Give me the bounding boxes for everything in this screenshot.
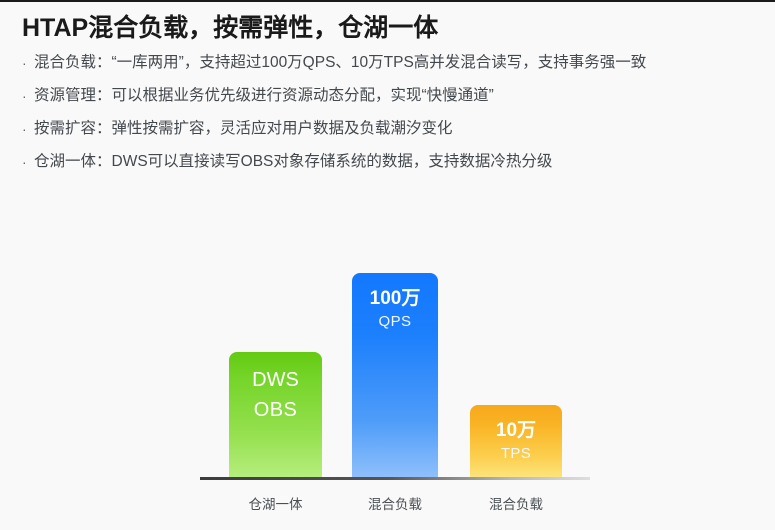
bar-value-label: 10万 [470, 419, 562, 443]
bar-cang-hu-yi-ti[interactable]: DWS OBS [229, 352, 322, 478]
bar-label-group: DWS OBS [229, 368, 322, 421]
list-item: · 资源管理：可以根据业务优先级进行资源动态分配，实现“快慢通道” [20, 85, 765, 118]
list-item: · 混合负载：“一库两用”，支持超过100万QPS、10万TPS高并发混合读写，… [20, 52, 765, 85]
bar-label-group: 10万 TPS [470, 419, 562, 465]
top-edge-rule [0, 0, 775, 2]
bullet-text: 按需扩容：弹性按需扩容，灵活应对用户数据及负载潮汐变化 [34, 118, 453, 140]
list-item: · 仓湖一体：DWS可以直接读写OBS对象存储系统的数据，支持数据冷热分级 [20, 151, 765, 184]
bullet-dot-icon: · [20, 85, 34, 107]
bar-sub-label: OBS [229, 399, 322, 421]
bullet-text: 混合负载：“一库两用”，支持超过100万QPS、10万TPS高并发混合读写，支持… [34, 52, 646, 74]
bar-qps[interactable]: 100万 QPS [352, 273, 438, 478]
category-label-1: 混合负载 [347, 493, 443, 513]
bar-value-label: 100万 [352, 287, 438, 311]
bullet-dot-icon: · [20, 151, 34, 173]
category-label-0: 仓湖一体 [229, 493, 322, 513]
category-label-2: 混合负载 [468, 493, 564, 513]
bullet-dot-icon: · [20, 52, 34, 74]
bar-label-group: 100万 QPS [352, 287, 438, 333]
bullet-dot-icon: · [20, 118, 34, 140]
page-title: HTAP混合负载，按需弹性，仓湖一体 [22, 8, 438, 44]
bar-tps[interactable]: 10万 TPS [470, 405, 562, 478]
bullet-text: 资源管理：可以根据业务优先级进行资源动态分配，实现“快慢通道” [34, 85, 494, 107]
bar-sub-label: QPS [352, 311, 438, 333]
list-item: · 按需扩容：弹性按需扩容，灵活应对用户数据及负载潮汐变化 [20, 118, 765, 151]
bullet-list: · 混合负载：“一库两用”，支持超过100万QPS、10万TPS高并发混合读写，… [20, 52, 765, 184]
bullet-text: 仓湖一体：DWS可以直接读写OBS对象存储系统的数据，支持数据冷热分级 [34, 151, 552, 173]
slide-canvas: HTAP混合负载，按需弹性，仓湖一体 · 混合负载：“一库两用”，支持超过100… [0, 0, 775, 530]
bar-sub-label: TPS [470, 443, 562, 465]
bar-value-label: DWS [229, 368, 322, 392]
